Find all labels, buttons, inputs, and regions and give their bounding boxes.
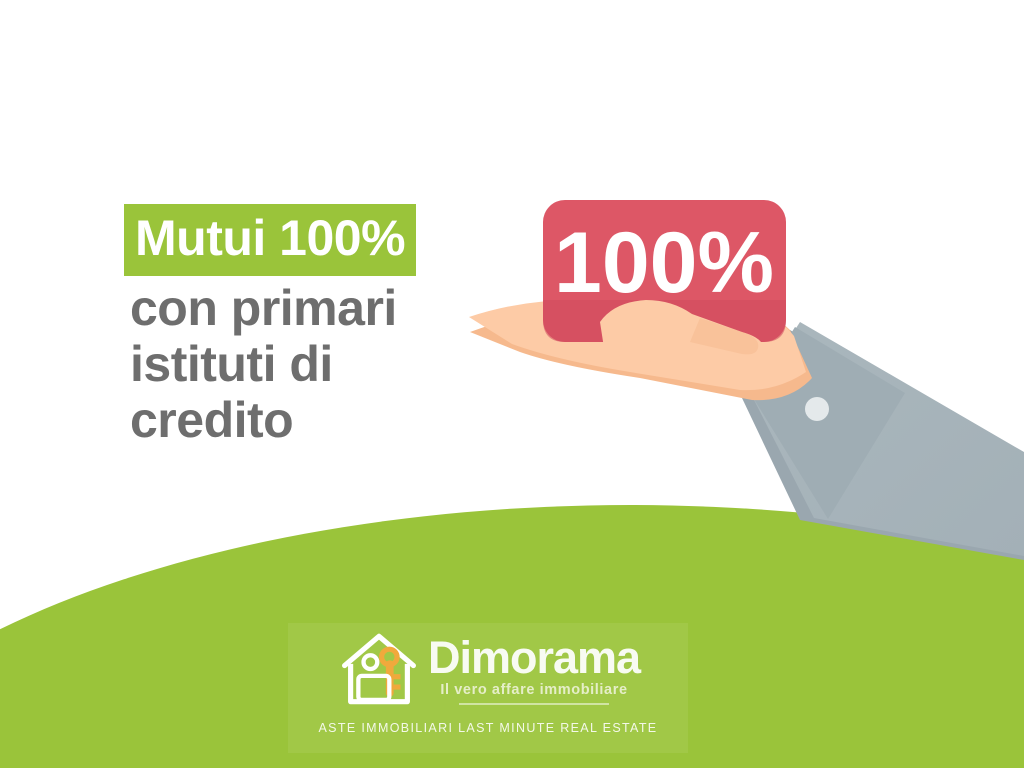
house-key-icon: [336, 626, 422, 712]
logo-tagline: Il vero affare immobiliare: [428, 681, 640, 700]
promo-banner: 100% Mutui 100% con primari istituti di …: [0, 0, 1024, 768]
headline-block: Mutui 100% con primari istituti di credi…: [124, 204, 524, 448]
headline-highlight: Mutui 100%: [124, 204, 416, 276]
logo-lockup[interactable]: Dimorama Il vero affare immobiliare ASTE…: [288, 623, 688, 753]
headline-line-2: istituti di: [124, 336, 524, 392]
logo-wordmark: Dimorama Il vero affare immobiliare: [428, 633, 640, 706]
percentage-card: 100%: [543, 200, 786, 342]
thumb-shape: [600, 300, 764, 362]
card-percent-label: 100%: [554, 215, 774, 311]
logo-row: Dimorama Il vero affare immobiliare: [288, 623, 688, 715]
logo-divider: [459, 703, 609, 705]
headline-line-1: con primari: [124, 280, 524, 336]
logo-name: Dimorama: [428, 637, 640, 680]
sleeve-button-icon: [805, 397, 829, 421]
headline-line-3: credito: [124, 392, 524, 448]
logo-strapline: ASTE IMMOBILIARI LAST MINUTE REAL ESTATE: [318, 721, 657, 735]
